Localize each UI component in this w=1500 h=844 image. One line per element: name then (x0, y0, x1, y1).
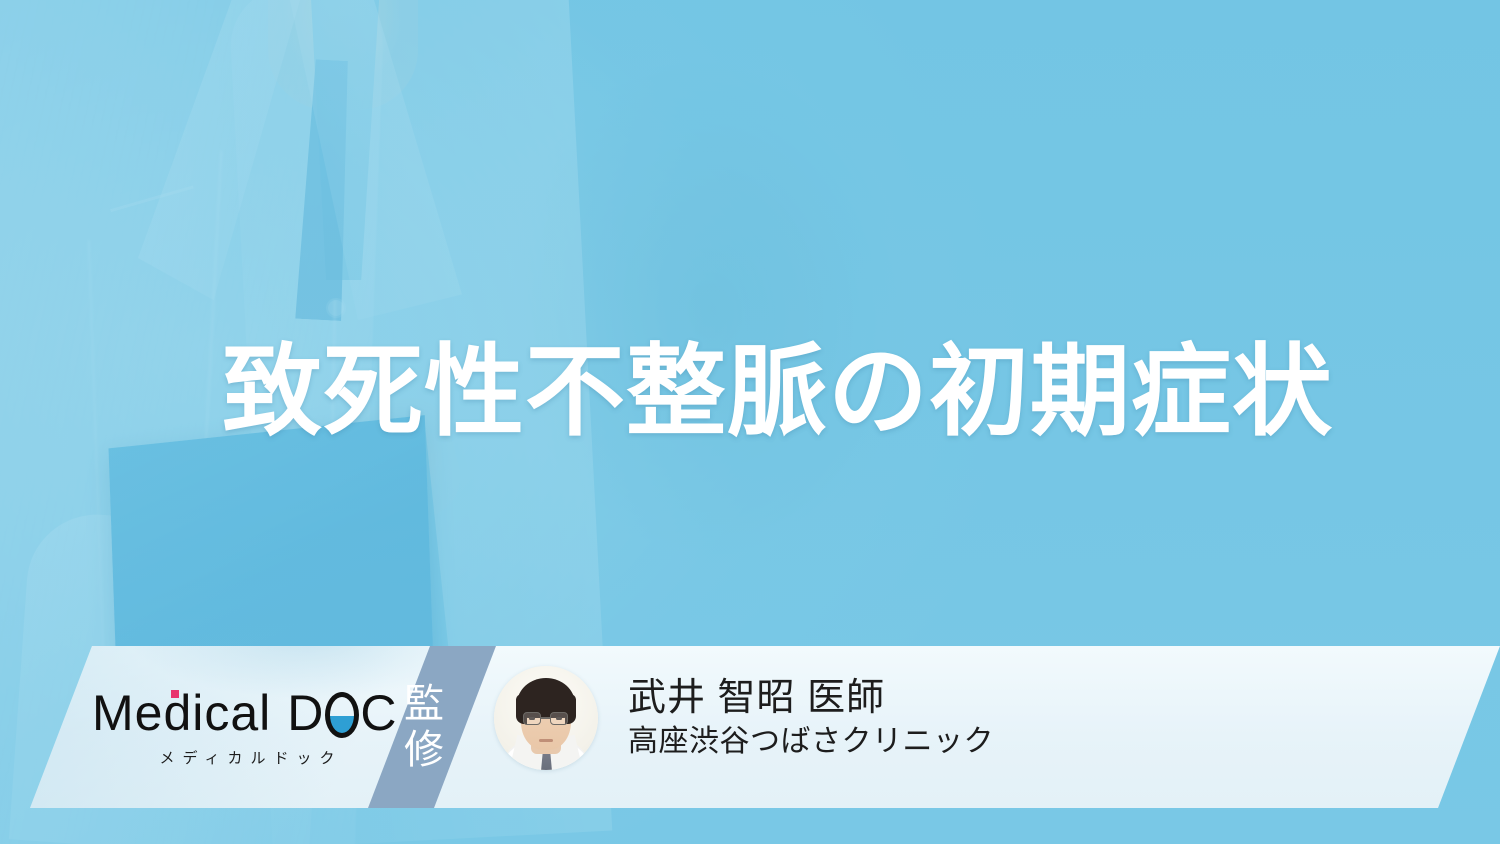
logo-capsule-o-icon (325, 692, 359, 738)
doctor-credit[interactable]: 武井 智昭 医師 高座渋谷つばさクリニック (494, 666, 994, 770)
avatar-mouth (539, 739, 553, 742)
supervision-label: 監 修 (389, 654, 459, 800)
avatar-glasses-lens-left (523, 712, 541, 725)
supervision-char-1: 監 (404, 684, 444, 724)
logo-capsule-ring (325, 692, 359, 738)
avatar-glasses-lens-right (550, 712, 568, 725)
logo-doc-d: D (287, 685, 324, 741)
logo-medical-label: Medical (92, 685, 271, 741)
avatar (494, 666, 598, 770)
doctor-clinic-name: 高座渋谷つばさクリニック (628, 724, 994, 760)
doctor-text-block: 武井 智昭 医師 高座渋谷つばさクリニック (628, 676, 994, 761)
doctor-name: 武井 智昭 医師 (628, 676, 994, 721)
slide-root: 致死性不整脈の初期症状 Medical D C メディカルドック 監 修 (0, 0, 1500, 844)
logo-text-doc: D C (287, 688, 397, 738)
logo-subtitle-katakana: メディカルドック (92, 747, 372, 768)
logo-text-medical: Medical (92, 688, 271, 738)
medical-doc-logo[interactable]: Medical D C メディカルドック (92, 688, 372, 778)
logo-i-dot-icon (171, 690, 179, 698)
avatar-glasses-bridge (541, 717, 550, 719)
logo-wordmark: Medical D C (92, 688, 372, 738)
supervision-char-2: 修 (404, 730, 444, 770)
page-title: 致死性不整脈の初期症状 (222, 336, 1333, 448)
